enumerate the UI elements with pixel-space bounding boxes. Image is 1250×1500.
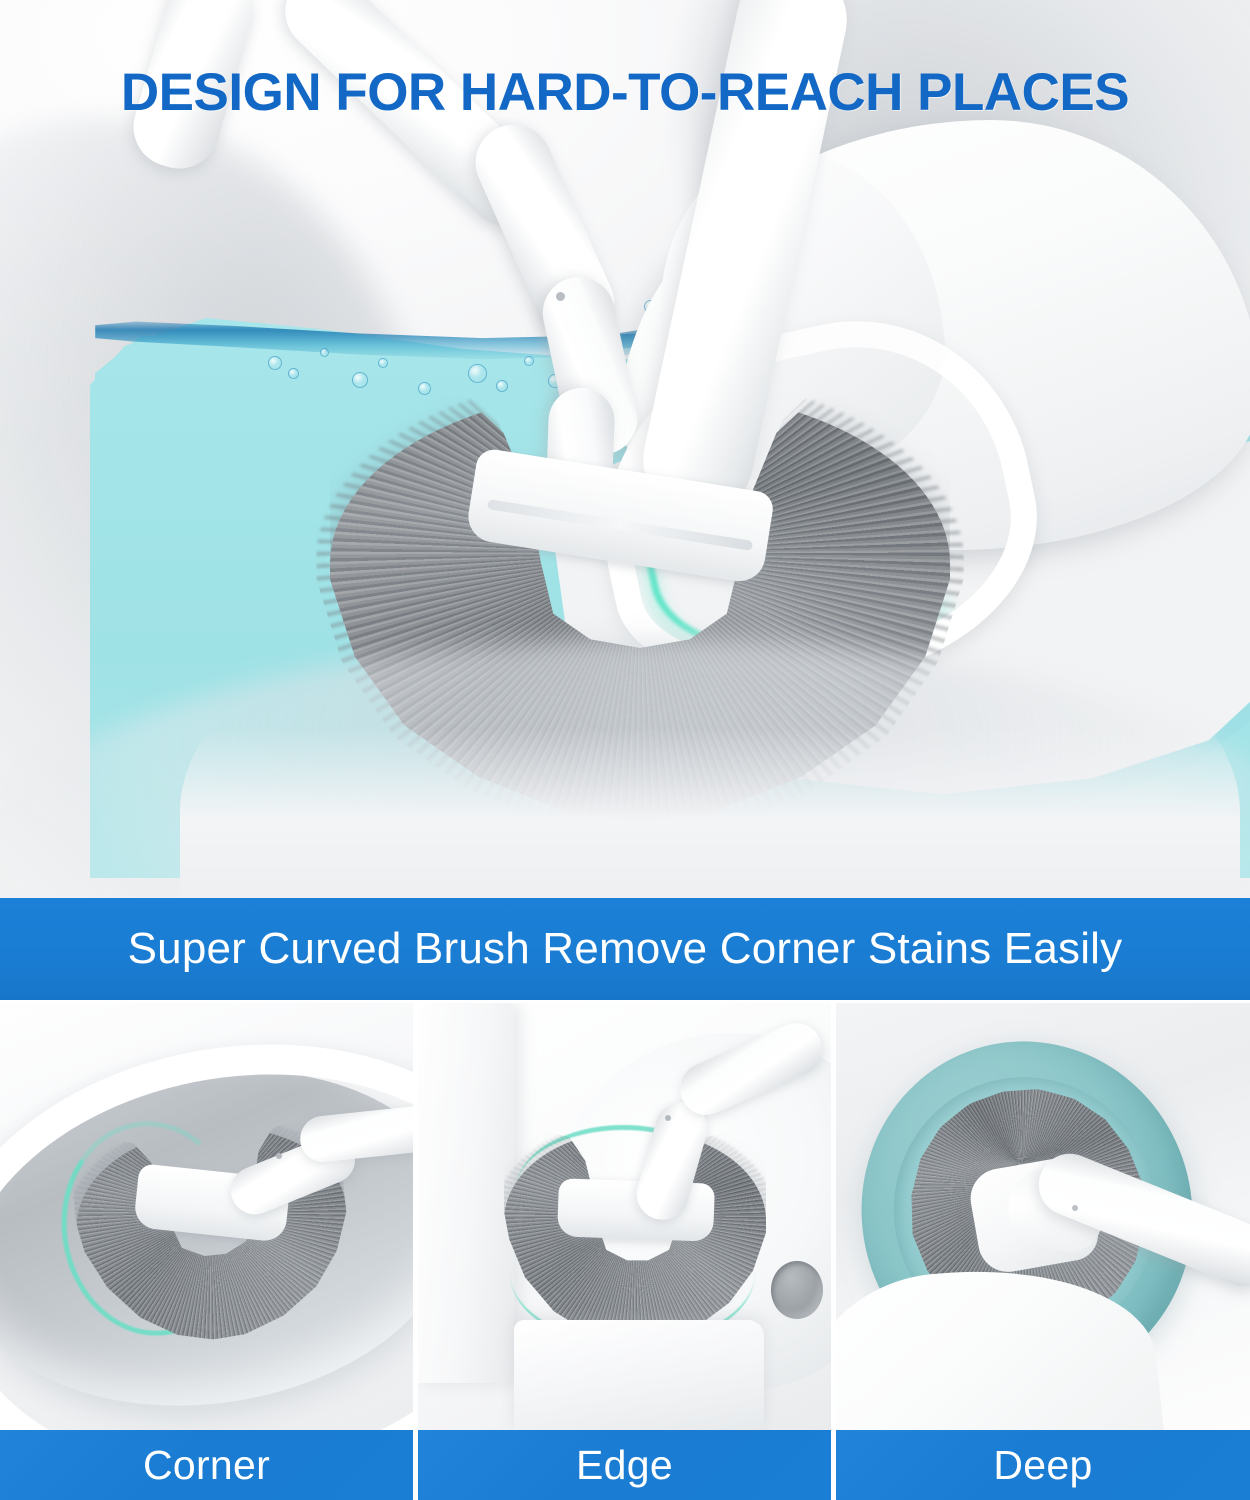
bubble [288, 368, 299, 379]
bubble [320, 348, 329, 357]
wall-surface [418, 1003, 514, 1383]
panel-label-edge: Edge [418, 1430, 831, 1500]
feature-panel-edge: Edge [418, 1003, 831, 1500]
page-title: DESIGN FOR HARD-TO-REACH PLACES [0, 62, 1250, 124]
bubble [352, 372, 368, 388]
brush-handle-vent-hole-icon [556, 292, 565, 301]
panel-label-text: Edge [576, 1441, 673, 1489]
product-feature-image: DESIGN FOR HARD-TO-REACH PLACES Super Cu… [0, 0, 1250, 1500]
toilet-drain-hole [771, 1261, 823, 1319]
panel-image-deep [836, 1003, 1250, 1430]
tagline-banner: Super Curved Brush Remove Corner Stains … [0, 898, 1250, 1000]
feature-panels: Corner Ed [0, 1003, 1250, 1500]
panel-image-corner [0, 1003, 413, 1430]
bubble [378, 358, 388, 368]
panel-image-edge [418, 1003, 831, 1430]
feature-panel-deep: Deep [836, 1003, 1250, 1500]
tagline-text: Super Curved Brush Remove Corner Stains … [128, 923, 1123, 975]
brush-handle-vent-hole-icon [665, 1115, 671, 1121]
panel-label-text: Corner [143, 1441, 270, 1489]
panel-label-text: Deep [993, 1441, 1092, 1489]
toilet-base [514, 1320, 764, 1430]
panel-label-deep: Deep [836, 1430, 1250, 1500]
panel-label-corner: Corner [0, 1430, 413, 1500]
brush-handle-vent-hole-icon [1072, 1205, 1078, 1211]
bubble [524, 356, 534, 366]
hero-image: DESIGN FOR HARD-TO-REACH PLACES [0, 0, 1250, 898]
feature-panel-corner: Corner [0, 1003, 413, 1500]
brush-handle-vent-hole-icon [276, 1153, 282, 1159]
bubble [468, 364, 487, 383]
bubble [268, 356, 282, 370]
